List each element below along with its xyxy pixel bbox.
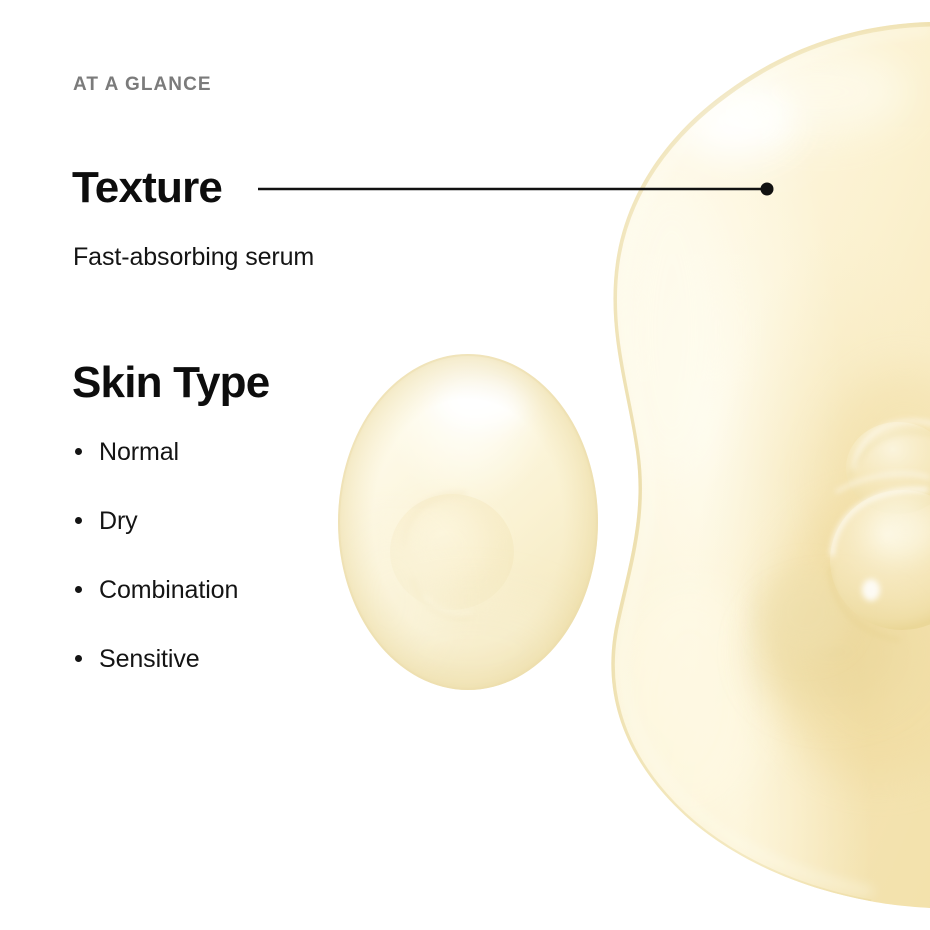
bullet-dot-icon bbox=[75, 586, 82, 593]
list-item-label: Sensitive bbox=[99, 645, 200, 673]
list-item-label: Dry bbox=[99, 507, 138, 535]
bullet-dot-icon bbox=[75, 517, 82, 524]
bullet-dot-icon bbox=[75, 448, 82, 455]
texture-description: Fast-absorbing serum bbox=[73, 243, 314, 272]
list-item-label: Normal bbox=[99, 438, 179, 466]
at-a-glance-eyebrow: AT A GLANCE bbox=[73, 74, 212, 96]
skin-type-heading: Skin Type bbox=[72, 358, 269, 408]
list-item: Normal bbox=[73, 436, 238, 505]
skin-type-list: Normal Dry Combination Sensitive bbox=[73, 436, 238, 712]
list-item: Dry bbox=[73, 505, 238, 574]
product-at-a-glance-panel: AT A GLANCE Texture Fast-absorbing serum… bbox=[0, 0, 930, 930]
list-item: Combination bbox=[73, 574, 238, 643]
list-item: Sensitive bbox=[73, 643, 238, 712]
bullet-dot-icon bbox=[75, 655, 82, 662]
texture-heading: Texture bbox=[72, 163, 222, 213]
list-item-label: Combination bbox=[99, 576, 238, 604]
text-content-layer: AT A GLANCE Texture Fast-absorbing serum… bbox=[0, 0, 930, 930]
